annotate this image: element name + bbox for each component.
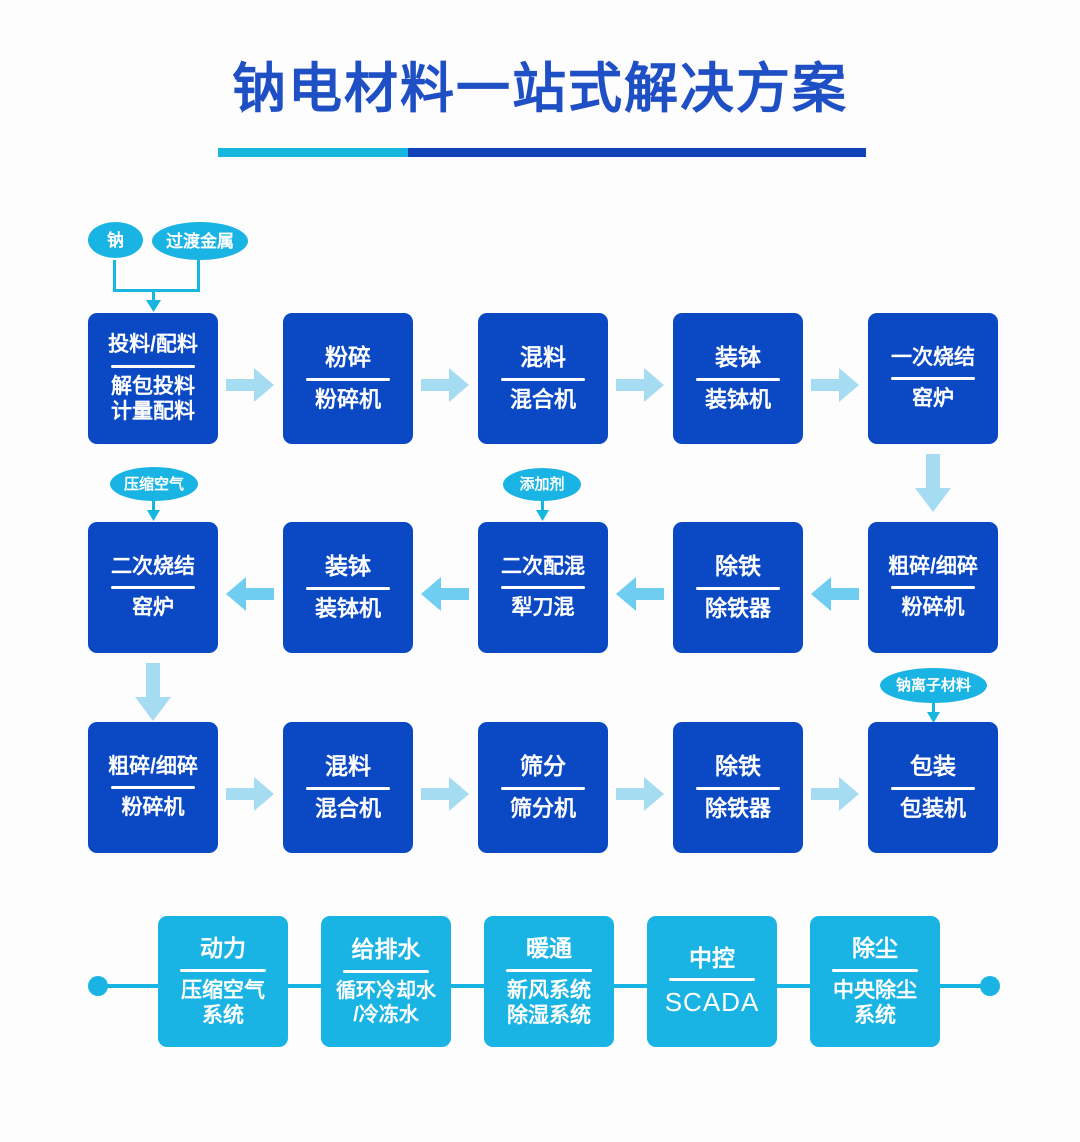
- node-divider: [501, 586, 585, 589]
- equipment-label-line2: 计量配料: [111, 399, 195, 424]
- node-divider: [506, 969, 592, 972]
- tag-additive-arrowhead: [536, 510, 549, 521]
- tag-compressed-air-label: 压缩空气: [124, 477, 184, 492]
- process-node-row3-4[interactable]: 除铁 除铁器: [673, 722, 803, 853]
- node-divider: [501, 787, 585, 790]
- utility-detail-line1: 中央除尘: [833, 978, 917, 1003]
- node-divider: [891, 586, 975, 589]
- process-label: 二次配混: [501, 555, 585, 580]
- utility-detail-line1: 压缩空气: [181, 978, 265, 1003]
- process-label: 二次烧结: [111, 555, 195, 580]
- tag-compressed-air-arrowhead: [147, 510, 160, 521]
- process-node-row1-5[interactable]: 一次烧结 窑炉: [868, 313, 998, 444]
- equipment-label-line1: 除铁器: [705, 596, 771, 622]
- branch-connector-arrowhead: [146, 300, 161, 312]
- node-divider: [891, 787, 975, 790]
- tag-additive[interactable]: 添加剂: [503, 468, 581, 501]
- branch-connector-right-leg: [197, 260, 200, 292]
- tag-sodium-label: 钠: [107, 232, 124, 249]
- node-divider: [343, 970, 429, 973]
- equipment-label-line1: 混合机: [315, 796, 381, 822]
- process-node-row2-4[interactable]: 除铁 除铁器: [673, 522, 803, 653]
- process-label: 一次烧结: [891, 346, 975, 371]
- node-divider: [180, 969, 266, 972]
- node-divider: [696, 587, 780, 590]
- node-divider: [696, 378, 780, 381]
- equipment-label-line1: 解包投料: [111, 374, 195, 399]
- flow-arrow-row2-3: [616, 577, 664, 611]
- process-label: 投料/配料: [108, 333, 198, 358]
- flow-arrow-row3-2: [421, 777, 469, 811]
- equipment-label-line1: 粉碎机: [902, 595, 965, 620]
- equipment-label-line1: 窑炉: [912, 386, 954, 411]
- flow-arrow-row3-1: [226, 777, 274, 811]
- equipment-label-line1: 装钵机: [315, 596, 381, 622]
- utility-system-label: 给排水: [352, 936, 421, 962]
- node-divider: [306, 378, 390, 381]
- process-label: 粗碎/细碎: [888, 555, 978, 580]
- tag-additive-label: 添加剂: [519, 477, 564, 492]
- node-divider: [891, 377, 975, 380]
- process-label: 装钵: [715, 344, 761, 371]
- node-divider: [669, 978, 755, 981]
- title-underline: [218, 148, 866, 157]
- process-label: 包装: [910, 753, 956, 780]
- tag-sodium-ion-material[interactable]: 钠离子材料: [880, 668, 987, 703]
- title-block: 钠电材料一站式解决方案: [0, 60, 1080, 119]
- page-title: 钠电材料一站式解决方案: [0, 60, 1080, 119]
- process-node-row2-2[interactable]: 装钵 装钵机: [283, 522, 413, 653]
- utility-node-hvac[interactable]: 暖通 新风系统 除湿系统: [484, 916, 614, 1047]
- tag-transition-metal[interactable]: 过渡金属: [152, 222, 248, 260]
- utility-node-power[interactable]: 动力 压缩空气 系统: [158, 916, 288, 1047]
- process-label: 装钵: [325, 553, 371, 580]
- process-label: 粉碎: [325, 344, 371, 371]
- node-divider: [832, 969, 918, 972]
- utility-detail-line2: 系统: [202, 1003, 244, 1028]
- flow-arrow-row1-to-row2: [915, 454, 951, 512]
- process-node-row2-3[interactable]: 二次配混 犁刀混: [478, 522, 608, 653]
- title-underline-cyan-segment: [218, 148, 408, 157]
- process-label: 混料: [325, 753, 371, 780]
- equipment-label-line1: 除铁器: [705, 796, 771, 822]
- flow-arrow-row1-2: [421, 368, 469, 402]
- utility-detail-line2: 系统: [854, 1003, 896, 1028]
- process-node-row1-2[interactable]: 粉碎 粉碎机: [283, 313, 413, 444]
- node-divider: [111, 365, 195, 368]
- utility-node-control[interactable]: 中控 SCADA: [647, 916, 777, 1047]
- flow-arrow-row2-2: [421, 577, 469, 611]
- node-divider: [306, 787, 390, 790]
- node-divider: [306, 587, 390, 590]
- equipment-label-line1: 包装机: [900, 796, 966, 822]
- equipment-label-line1: 犁刀混: [512, 595, 575, 620]
- equipment-label-line1: 粉碎机: [122, 795, 185, 820]
- utility-detail-line1: 新风系统: [507, 978, 591, 1003]
- flow-arrow-row3-3: [616, 777, 664, 811]
- utility-rail-dot-right: [980, 976, 1000, 996]
- flow-arrow-row1-4: [811, 368, 859, 402]
- process-label: 除铁: [715, 553, 761, 580]
- process-label: 除铁: [715, 753, 761, 780]
- tag-sodium-ion-material-label: 钠离子材料: [896, 678, 971, 693]
- flow-arrow-row3-4: [811, 777, 859, 811]
- flow-arrow-row2-4: [811, 577, 859, 611]
- process-node-row1-3[interactable]: 混料 混合机: [478, 313, 608, 444]
- utility-node-dust[interactable]: 除尘 中央除尘 系统: [810, 916, 940, 1047]
- node-divider: [111, 586, 195, 589]
- equipment-label-line1: 混合机: [510, 387, 576, 413]
- process-node-row1-1[interactable]: 投料/配料 解包投料 计量配料: [88, 313, 218, 444]
- node-divider: [696, 787, 780, 790]
- title-underline-blue-segment: [408, 148, 866, 157]
- flow-arrow-row2-to-row3: [135, 663, 171, 721]
- process-node-row3-2[interactable]: 混料 混合机: [283, 722, 413, 853]
- utility-detail-line2: 除湿系统: [507, 1003, 591, 1028]
- tag-sodium[interactable]: 钠: [88, 222, 143, 258]
- utility-system-label: 除尘: [852, 935, 898, 961]
- utility-rail-dot-left: [88, 976, 108, 996]
- utility-system-label: 动力: [200, 935, 246, 961]
- branch-connector-left-leg: [113, 260, 116, 292]
- process-label: 粗碎/细碎: [108, 755, 198, 780]
- utility-detail-line2: /冷冻水: [353, 1003, 419, 1027]
- flow-arrow-row1-1: [226, 368, 274, 402]
- process-node-row3-3[interactable]: 筛分 筛分机: [478, 722, 608, 853]
- process-label: 混料: [520, 344, 566, 371]
- process-node-row3-1[interactable]: 粗碎/细碎 粉碎机: [88, 722, 218, 853]
- equipment-label-line1: 筛分机: [510, 796, 576, 822]
- process-node-row2-1[interactable]: 二次烧结 窑炉: [88, 522, 218, 653]
- process-node-row3-5[interactable]: 包装 包装机: [868, 722, 998, 853]
- process-label: 筛分: [520, 753, 566, 780]
- utility-system-label: 暖通: [526, 935, 572, 961]
- tag-compressed-air[interactable]: 压缩空气: [110, 467, 198, 501]
- process-node-row1-4[interactable]: 装钵 装钵机: [673, 313, 803, 444]
- flow-arrow-row1-3: [616, 368, 664, 402]
- equipment-label-line1: 装钵机: [705, 387, 771, 413]
- node-divider: [501, 378, 585, 381]
- node-divider: [111, 786, 195, 789]
- utility-detail-line1: 循环冷却水: [336, 979, 436, 1003]
- utility-system-label: 中控: [689, 945, 735, 971]
- flow-arrow-row2-1: [226, 577, 274, 611]
- utility-node-water[interactable]: 给排水 循环冷却水 /冷冻水: [321, 916, 451, 1047]
- utility-detail-line1: SCADA: [665, 987, 760, 1018]
- process-node-row2-5[interactable]: 粗碎/细碎 粉碎机: [868, 522, 998, 653]
- branch-connector-crossbar: [113, 289, 200, 292]
- equipment-label-line1: 粉碎机: [315, 387, 381, 413]
- tag-transition-metal-label: 过渡金属: [166, 233, 234, 250]
- equipment-label-line1: 窑炉: [132, 595, 174, 620]
